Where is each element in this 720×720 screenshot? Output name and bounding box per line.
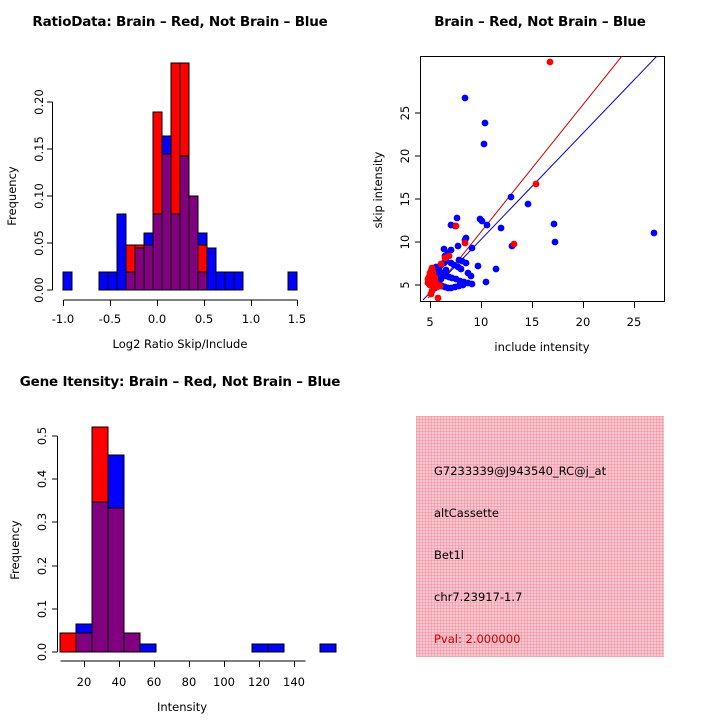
pval-text: Pval: 2.000000: [434, 632, 520, 646]
scatter-ytick-5: 5: [398, 281, 412, 288]
ratio-xtick-1.5: 1.5: [288, 312, 306, 326]
gene-info-box: G7233339@J943540_RC@j_at altCassette Bet…: [416, 416, 664, 657]
gene-xlabel: Intensity: [157, 700, 207, 714]
scatter-points-brain: [425, 59, 554, 302]
gene-ytick-0.5: 0.5: [35, 427, 49, 445]
gene-xtick-20: 20: [77, 675, 92, 689]
ratio-ylabel: Frequency: [5, 166, 19, 226]
gene-xtick-100: 100: [213, 675, 235, 689]
ratio-histogram-svg: 0.20 0.15 0.10 0.05 0.00 Frequency: [0, 0, 360, 360]
event-type-text: altCassette: [434, 506, 499, 520]
gene-xtick-120: 120: [248, 675, 270, 689]
gene-symbol-text: Bet1l: [434, 548, 464, 562]
gene-histogram-svg: 0.5 0.4 0.3 0.2 0.1 0.0 Frequency: [0, 360, 360, 720]
scatter-ytick-25: 25: [398, 106, 412, 121]
ratio-xtick-0.5: 0.5: [195, 312, 213, 326]
scatter-ylabel: skip intensity: [371, 151, 385, 228]
scatter-ytick-15: 15: [398, 192, 412, 207]
ratio-xtick-1.0: 1.0: [242, 312, 260, 326]
scatter-xtick-10: 10: [474, 315, 489, 329]
ratio-xtick-0.0: 0.0: [148, 312, 166, 326]
ratio-ytick-0.05: 0.05: [32, 230, 46, 256]
ratio-ytick-0.15: 0.15: [32, 136, 46, 162]
probe-id-text: G7233339@J943540_RC@j_at: [434, 464, 606, 478]
gene-xtick-60: 60: [147, 675, 162, 689]
gene-xtick-40: 40: [112, 675, 127, 689]
scatter-ytick-20: 20: [398, 149, 412, 164]
scatter-xtick-5: 5: [426, 315, 433, 329]
ratio-bars-overlap: [126, 154, 207, 290]
gene-histogram-panel: Gene Itensity: Brain – Red, Not Brain – …: [0, 360, 360, 720]
gene-xtick-140: 140: [283, 675, 305, 689]
gene-ytick-0.2: 0.2: [35, 557, 49, 575]
gene-histogram-title: Gene Itensity: Brain – Red, Not Brain – …: [0, 374, 360, 390]
ratio-xtick--1.0: -1.0: [52, 312, 74, 326]
ratio-histogram-title: RatioData: Brain – Red, Not Brain – Blue: [0, 14, 360, 30]
gene-ytick-0.1: 0.1: [35, 600, 49, 618]
gene-ylabel: Frequency: [8, 520, 22, 580]
scatter-xtick-20: 20: [576, 315, 591, 329]
scatter-svg: 5 10 15 20 25 skip intensity 5 10 15 20 …: [360, 0, 720, 360]
gene-ytick-0.4: 0.4: [35, 470, 49, 488]
ratio-histogram-panel: RatioData: Brain – Red, Not Brain – Blue…: [0, 0, 360, 360]
scatter-xtick-25: 25: [627, 315, 642, 329]
ratio-ytick-0.00: 0.00: [32, 277, 46, 303]
scatter-panel: Brain – Red, Not Brain – Blue: [360, 0, 720, 360]
gene-ytick-0.3: 0.3: [35, 513, 49, 531]
scatter-title: Brain – Red, Not Brain – Blue: [360, 14, 720, 30]
gene-info-panel: G7233339@J943540_RC@j_at altCassette Bet…: [360, 360, 720, 720]
ratio-ytick-0.10: 0.10: [32, 183, 46, 209]
scatter-xlabel: include intensity: [494, 340, 589, 354]
ratio-ytick-0.20: 0.20: [32, 89, 46, 115]
scatter-ytick-10: 10: [398, 235, 412, 250]
gene-xtick-80: 80: [182, 675, 197, 689]
ratio-xtick--0.5: -0.5: [99, 312, 121, 326]
not-brain-fit-line: [423, 56, 657, 300]
gene-ytick-0.0: 0.0: [35, 643, 49, 661]
scatter-points-not-brain: [430, 95, 658, 292]
locus-text: chr7.23917-1.7: [434, 590, 522, 604]
scatter-fit-lines: [423, 56, 657, 300]
ratio-xlabel: Log2 Ratio Skip/Include: [113, 337, 248, 351]
scatter-xtick-15: 15: [525, 315, 540, 329]
